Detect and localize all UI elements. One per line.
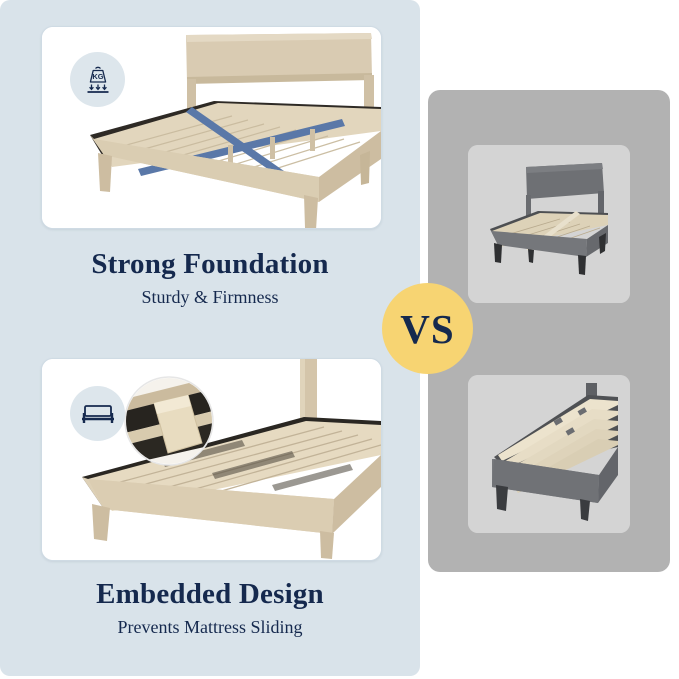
- product-feature-panel: KG Strong Foundation Sturdy & Firmness: [0, 0, 420, 676]
- competitor-leg-left: [494, 243, 502, 263]
- kg-weight-badge: KG: [70, 52, 125, 107]
- bed-leg-left: [92, 504, 110, 541]
- feature-card-embedded-design: [41, 358, 382, 561]
- feature-title: Strong Foundation: [0, 250, 420, 279]
- bed-leg-front: [320, 531, 334, 559]
- bed-leg-front: [304, 195, 318, 228]
- caption-strong-foundation: Strong Foundation Sturdy & Firmness: [0, 250, 420, 306]
- competitor-leg-left: [496, 485, 508, 511]
- competitor-bed-closeup-image: [468, 375, 630, 533]
- competitor-card-bottom: [468, 375, 630, 533]
- mattress-badge: [70, 386, 125, 441]
- mattress-bed-icon: [78, 400, 118, 428]
- magnifier-inset: [125, 377, 213, 465]
- infographic-canvas: KG Strong Foundation Sturdy & Firmness: [0, 0, 679, 679]
- competitor-leg-front: [578, 255, 586, 275]
- svg-text:KG: KG: [92, 72, 103, 81]
- kg-weight-icon: KG: [79, 61, 117, 99]
- bed-leg-left: [98, 153, 112, 192]
- bed-leg-right: [360, 151, 370, 185]
- competitor-bed-full-image: [468, 145, 630, 303]
- feature-card-strong-foundation: KG: [41, 26, 382, 229]
- vs-badge: VS: [382, 283, 473, 374]
- feature-title: Embedded Design: [0, 580, 420, 609]
- caption-embedded-design: Embedded Design Prevents Mattress Slidin…: [0, 580, 420, 636]
- competitor-card-top: [468, 145, 630, 303]
- feature-subtitle: Prevents Mattress Sliding: [0, 618, 420, 636]
- feature-subtitle: Sturdy & Firmness: [0, 288, 420, 306]
